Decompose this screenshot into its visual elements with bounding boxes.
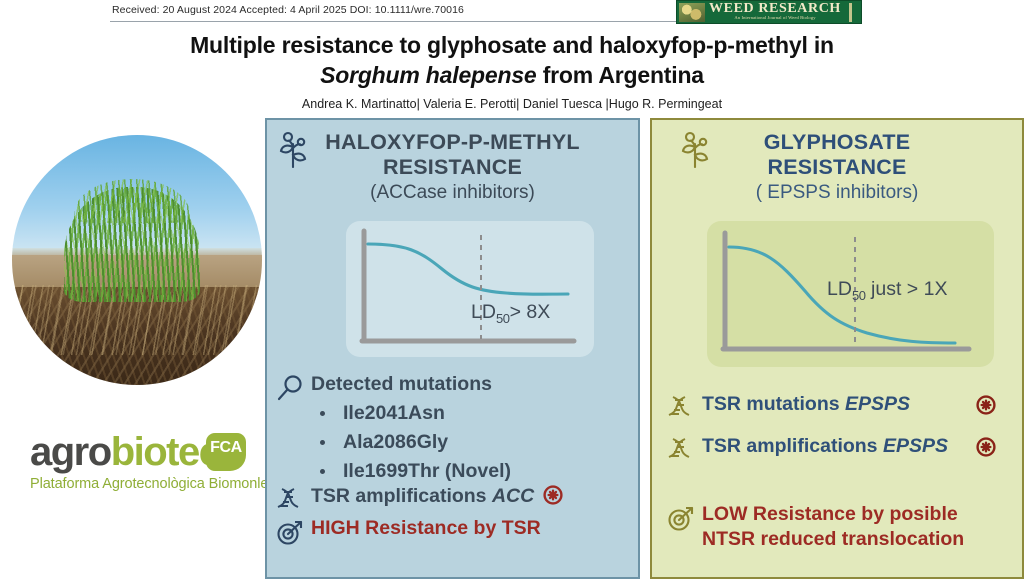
panel-header-haloxyfop: HALOXYFOP-P-METHYL RESISTANCE (ACCase in…: [267, 130, 638, 204]
tsr-amp-gene: EPSPS: [883, 435, 948, 457]
list-item: Ile2041Asn: [311, 399, 635, 428]
tsr-mutations-body: TSR mutations EPSPS: [702, 392, 1018, 417]
journal-logo-edge-bar: [849, 3, 858, 22]
ld50-subscript: 50: [496, 311, 510, 326]
journal-logo-thumbnail-icon: [679, 3, 705, 22]
heading-line-2: RESISTANCE: [383, 155, 522, 179]
chart-annotation-ld50-glyphosate: LD50 just > 1X: [827, 278, 947, 303]
chart-curve: [368, 244, 568, 294]
row-conclusion-glyphosate: LOW Resistance by posible NTSR reduced t…: [666, 502, 1018, 552]
logo-text-agro: agro: [30, 430, 111, 474]
status-badge-negative: [976, 395, 996, 415]
dna-helix-icon: [666, 392, 702, 429]
tsr-amplifications-epsps-label: TSR amplifications EPSPS: [702, 434, 948, 459]
ld50-suffix: just > 1X: [866, 278, 948, 300]
target-arrow-icon: [666, 502, 702, 539]
ld50-subscript: 50: [852, 288, 866, 303]
tsr-mutations-epsps-label: TSR mutations EPSPS: [702, 392, 910, 417]
agrobiotec-tagline: Plataforma Agrotecnològica Biomonlecular: [30, 476, 299, 492]
heading-line-2: RESISTANCE: [768, 155, 907, 179]
journal-name: WEED RESEARCH: [709, 2, 841, 16]
detected-mutations-title: Detected mutations: [311, 372, 635, 397]
panel-subheading-glyphosate: ( EPSPS inhibitors): [677, 181, 997, 204]
tsr-amplifications-body: TSR amplifications EPSPS: [702, 434, 1018, 459]
header-strip: Received: 20 August 2024 Accepted: 4 Apr…: [0, 0, 1024, 26]
johnsongrass-photo: [12, 135, 262, 385]
panel-glyphosate-resistance: GLYPHOSATE RESISTANCE ( EPSPS inhibitors…: [650, 118, 1024, 579]
fca-badge: FCA: [206, 433, 246, 471]
panel-haloxyfop-resistance: HALOXYFOP-P-METHYL RESISTANCE (ACCase in…: [265, 118, 640, 579]
title-species-name: Sorghum halepense: [320, 62, 536, 88]
conclusion-glyphosate-line-1: LOW Resistance by posible: [702, 502, 1018, 527]
chart-annotation-ld50-haloxyfop: LD50> 8X: [471, 301, 550, 326]
conclusion-glyphosate-line-2: NTSR reduced translocation: [702, 527, 1018, 552]
ld50-prefix: LD: [827, 278, 852, 300]
detected-mutations-body: Detected mutations Ile2041Asn Ala2086Gly…: [311, 372, 635, 486]
tsr-acc-body: TSR amplifications ACC: [311, 484, 635, 509]
tsr-acc-gene: ACC: [492, 485, 534, 507]
row-detected-mutations: Detected mutations Ile2041Asn Ala2086Gly…: [275, 372, 635, 486]
agrobiotec-wordmark: agrobiotec: [30, 430, 219, 474]
title-line-1: Multiple resistance to glyphosate and ha…: [190, 32, 834, 58]
target-arrow-icon: [275, 516, 311, 553]
status-badge-negative: [976, 437, 996, 457]
article-meta-line: Received: 20 August 2024 Accepted: 4 Apr…: [112, 4, 464, 16]
tsr-acc-text: TSR amplifications: [311, 485, 492, 507]
magnifier-icon: [275, 372, 311, 409]
row-tsr-amplifications-epsps: TSR amplifications EPSPS: [666, 434, 1018, 471]
conclusion-haloxyfop-body: HIGH Resistance by TSR: [311, 516, 635, 541]
title-block: Multiple resistance to glyphosate and ha…: [0, 30, 1024, 111]
tsr-amplifications-acc-label: TSR amplifications ACC: [311, 484, 635, 509]
conclusion-haloxyfop-text: HIGH Resistance by TSR: [311, 516, 635, 541]
panel-heading-haloxyfop: HALOXYFOP-P-METHYL RESISTANCE: [303, 130, 603, 180]
agrobiotec-logo: agrobiotec FCA Plataforma Agrotecnològic…: [16, 424, 260, 504]
tsr-amp-text: TSR amplifications: [702, 435, 883, 457]
tsr-mut-gene: EPSPS: [845, 393, 910, 415]
tsr-mut-text: TSR mutations: [702, 393, 845, 415]
panel-subheading-haloxyfop: (ACCase inhibitors): [293, 181, 613, 204]
list-item: Ala2086Gly: [311, 428, 635, 457]
chart-glyphosate-dose-response: LD50 just > 1X: [707, 221, 994, 367]
journal-subtitle: An International Journal of Weed Biology: [709, 15, 841, 20]
mutation-list: Ile2041Asn Ala2086Gly Ile1699Thr (Novel): [311, 399, 635, 486]
ld50-prefix: LD: [471, 301, 496, 323]
ld50-suffix: > 8X: [510, 301, 551, 323]
fca-badge-label: FCA: [206, 439, 246, 457]
chart-haloxyfop-svg: [346, 221, 594, 357]
row-tsr-mutations-epsps: TSR mutations EPSPS: [666, 392, 1018, 429]
panel-heading-glyphosate: GLYPHOSATE RESISTANCE: [687, 130, 987, 180]
list-item: Ile1699Thr (Novel): [311, 457, 635, 486]
panel-header-glyphosate: GLYPHOSATE RESISTANCE ( EPSPS inhibitors…: [652, 130, 1022, 204]
conclusion-glyphosate-body: LOW Resistance by posible NTSR reduced t…: [702, 502, 1018, 552]
author-list: Andrea K. Martinatto| Valeria E. Perotti…: [0, 97, 1024, 111]
heading-line-1: HALOXYFOP-P-METHYL: [325, 130, 579, 154]
journal-logo: WEED RESEARCH An International Journal o…: [676, 0, 862, 24]
heading-line-1: GLYPHOSATE: [764, 130, 911, 154]
row-conclusion-haloxyfop: HIGH Resistance by TSR: [275, 516, 635, 553]
status-badge-negative: [543, 485, 563, 505]
dna-helix-icon: [666, 434, 702, 471]
chart-haloxyfop-dose-response: LD50> 8X: [346, 221, 594, 357]
page-title: Multiple resistance to glyphosate and ha…: [0, 30, 1024, 90]
logo-text-biotec: biotec: [111, 430, 220, 474]
title-line-2-tail: from Argentina: [537, 62, 704, 88]
